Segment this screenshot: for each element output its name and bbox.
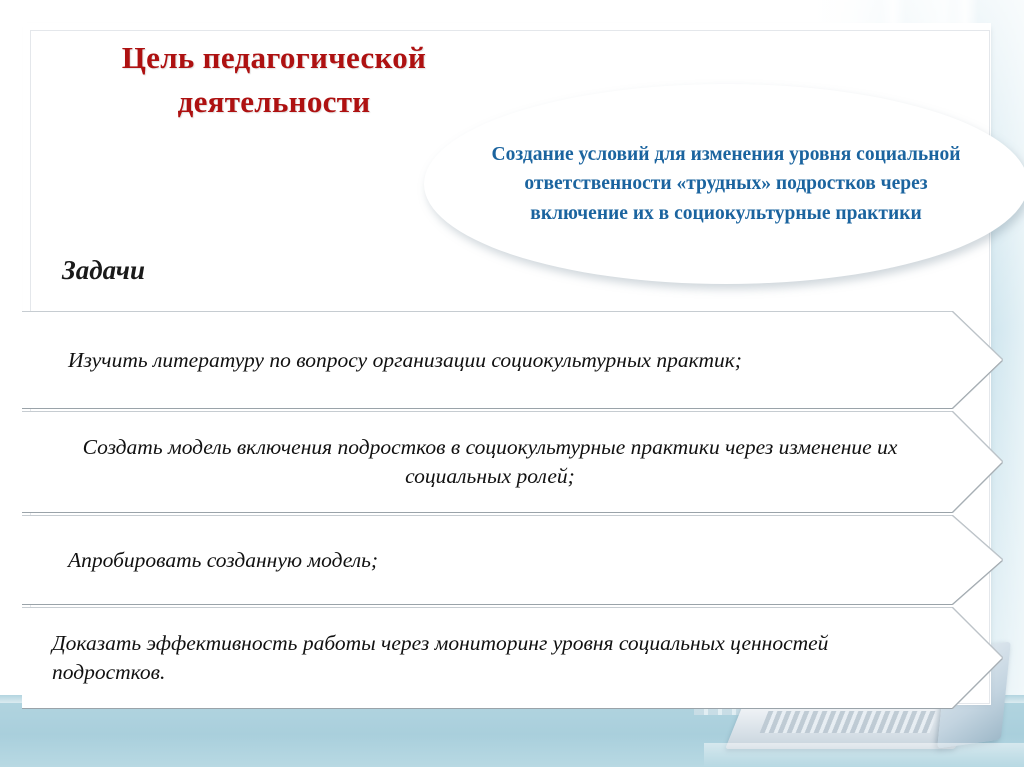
- task-banner-3-text: Апробировать созданную модель;: [22, 546, 952, 575]
- task-banner-1-text: Изучить литературу по вопросу организаци…: [22, 346, 952, 375]
- task-banner-4-text: Доказать эффективность работы через мони…: [22, 629, 952, 687]
- task-banner-2[interactable]: Создать модель включения подростков в со…: [22, 412, 1002, 512]
- slide-canvas: Цель педагогической деятельности Создани…: [0, 0, 1024, 767]
- task-banner-4[interactable]: Доказать эффективность работы через мони…: [22, 608, 1002, 708]
- task-banner-1[interactable]: Изучить литературу по вопросу организаци…: [22, 312, 1002, 408]
- laptop-keys: [760, 711, 939, 733]
- page-title: Цель педагогической деятельности: [84, 36, 464, 124]
- goal-oval-callout: Создание условий для изменения уровня со…: [424, 84, 1024, 284]
- laptop-reflection: [704, 743, 1024, 767]
- tasks-heading: Задачи: [62, 255, 145, 286]
- goal-oval-text: Создание условий для изменения уровня со…: [476, 140, 976, 228]
- task-banner-2-text: Создать модель включения подростков в со…: [22, 433, 952, 491]
- tasks-banner-list: Изучить литературу по вопросу организаци…: [22, 312, 1002, 712]
- task-banner-3[interactable]: Апробировать созданную модель;: [22, 516, 1002, 604]
